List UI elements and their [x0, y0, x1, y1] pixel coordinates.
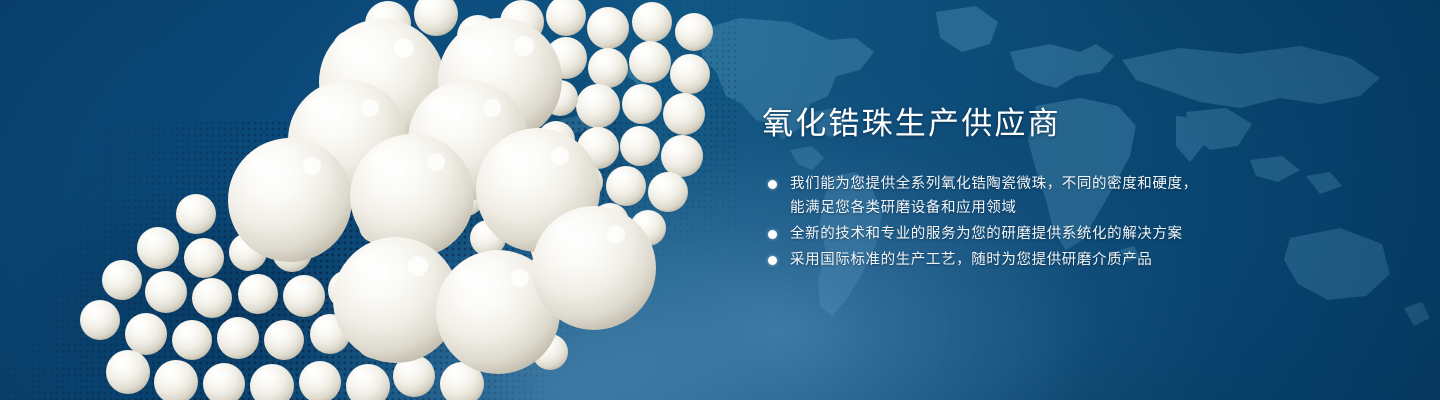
- list-item-line-2: 能满足您各类研磨设备和应用领域: [790, 196, 1322, 220]
- zirconia-beads-image: [0, 0, 740, 400]
- list-item-line-1: 我们能为您提供全系列氧化锆陶瓷微珠，不同的密度和硬度，: [790, 176, 1198, 192]
- list-item-line-1: 采用国际标准的生产工艺，随时为您提供研磨介质产品: [790, 252, 1152, 268]
- feature-list: 我们能为您提供全系列氧化锆陶瓷微珠，不同的密度和硬度， 能满足您各类研磨设备和应…: [762, 172, 1322, 272]
- list-item-line-1: 全新的技术和专业的服务为您的研磨提供系统化的解决方案: [790, 226, 1183, 242]
- list-item: 我们能为您提供全系列氧化锆陶瓷微珠，不同的密度和硬度， 能满足您各类研磨设备和应…: [762, 172, 1322, 220]
- bullet-dot-icon: [768, 230, 777, 239]
- hero-banner: 氧化锆珠生产供应商 我们能为您提供全系列氧化锆陶瓷微珠，不同的密度和硬度， 能满…: [0, 0, 1440, 400]
- banner-copy: 氧化锆珠生产供应商 我们能为您提供全系列氧化锆陶瓷微珠，不同的密度和硬度， 能满…: [762, 104, 1322, 274]
- list-item: 采用国际标准的生产工艺，随时为您提供研磨介质产品: [762, 248, 1322, 272]
- list-item: 全新的技术和专业的服务为您的研磨提供系统化的解决方案: [762, 222, 1322, 246]
- page-title: 氧化锆珠生产供应商: [762, 104, 1322, 144]
- bullet-dot-icon: [768, 256, 777, 265]
- bullet-dot-icon: [768, 180, 777, 189]
